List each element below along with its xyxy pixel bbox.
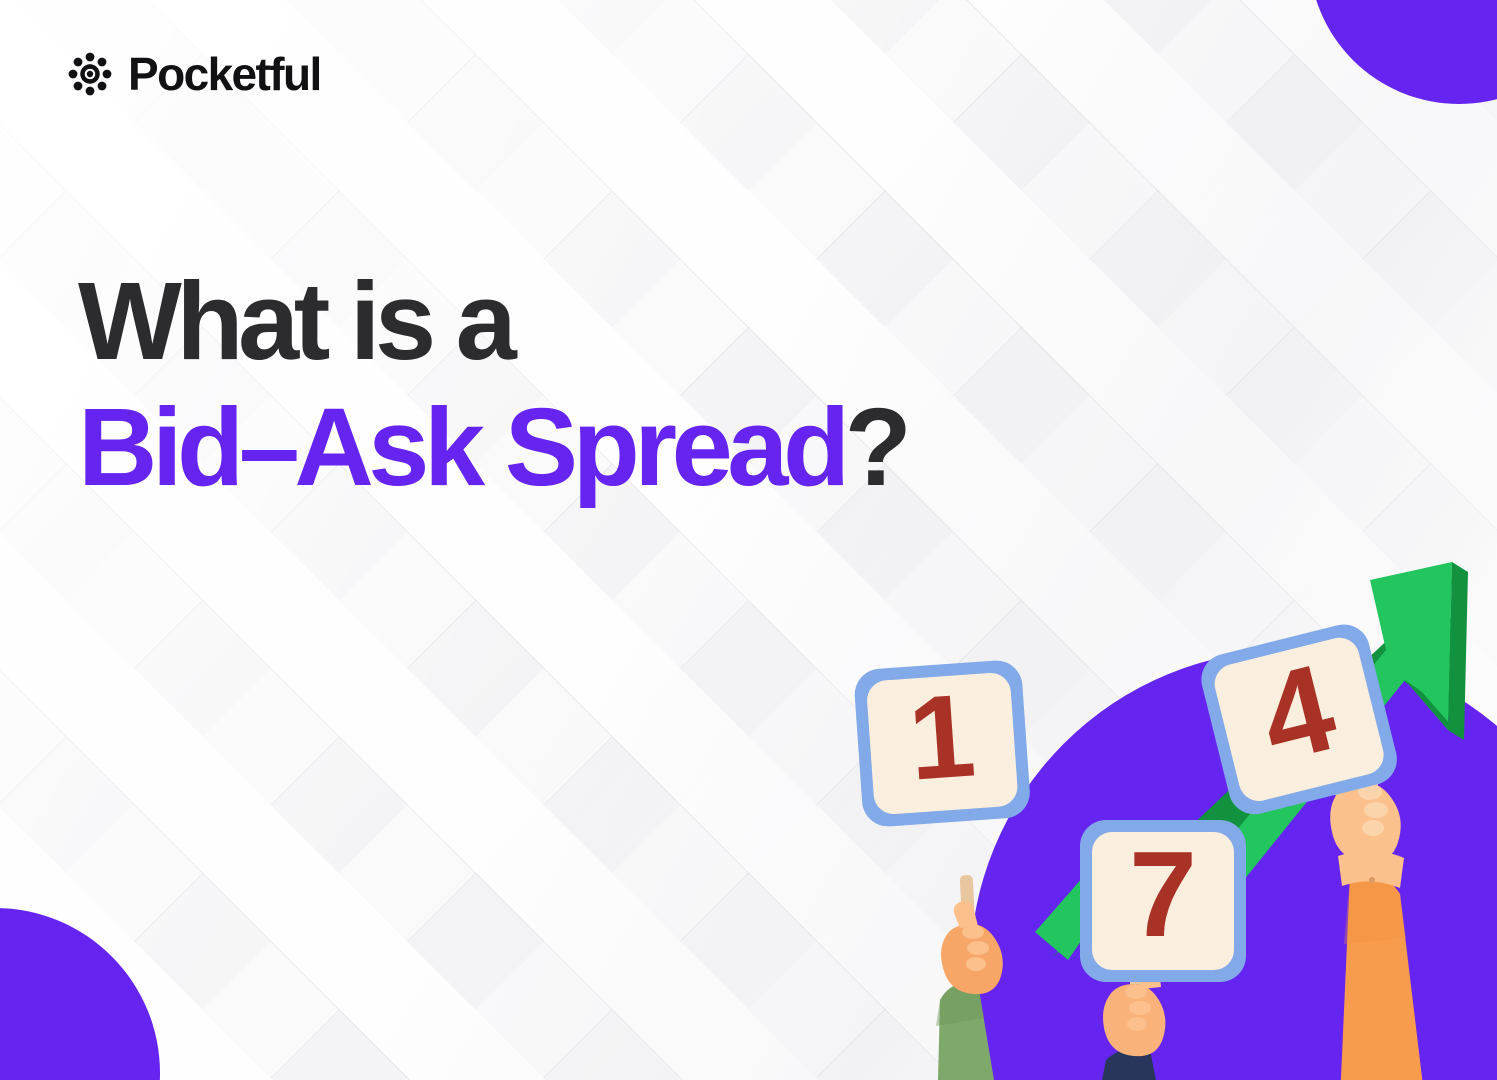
- placard-7-number: 7: [1129, 826, 1197, 962]
- page-title: What is a Bid–Ask Spread?: [78, 268, 906, 502]
- hero-illustration: 1: [830, 540, 1497, 1080]
- pocketful-radial-dots-logo-icon: [66, 50, 114, 98]
- headline-line-1: What is a: [78, 268, 906, 376]
- poster-canvas: Pocketful What is a Bid–Ask Spread?: [0, 0, 1497, 1080]
- headline-question-mark: ?: [845, 386, 907, 509]
- headline-accent-text: Bid–Ask Spread: [78, 386, 845, 509]
- brand-logo[interactable]: Pocketful: [66, 50, 321, 98]
- brand-name: Pocketful: [128, 51, 321, 97]
- headline-line-2: Bid–Ask Spread?: [78, 394, 906, 502]
- placard-1-number: 1: [904, 669, 979, 805]
